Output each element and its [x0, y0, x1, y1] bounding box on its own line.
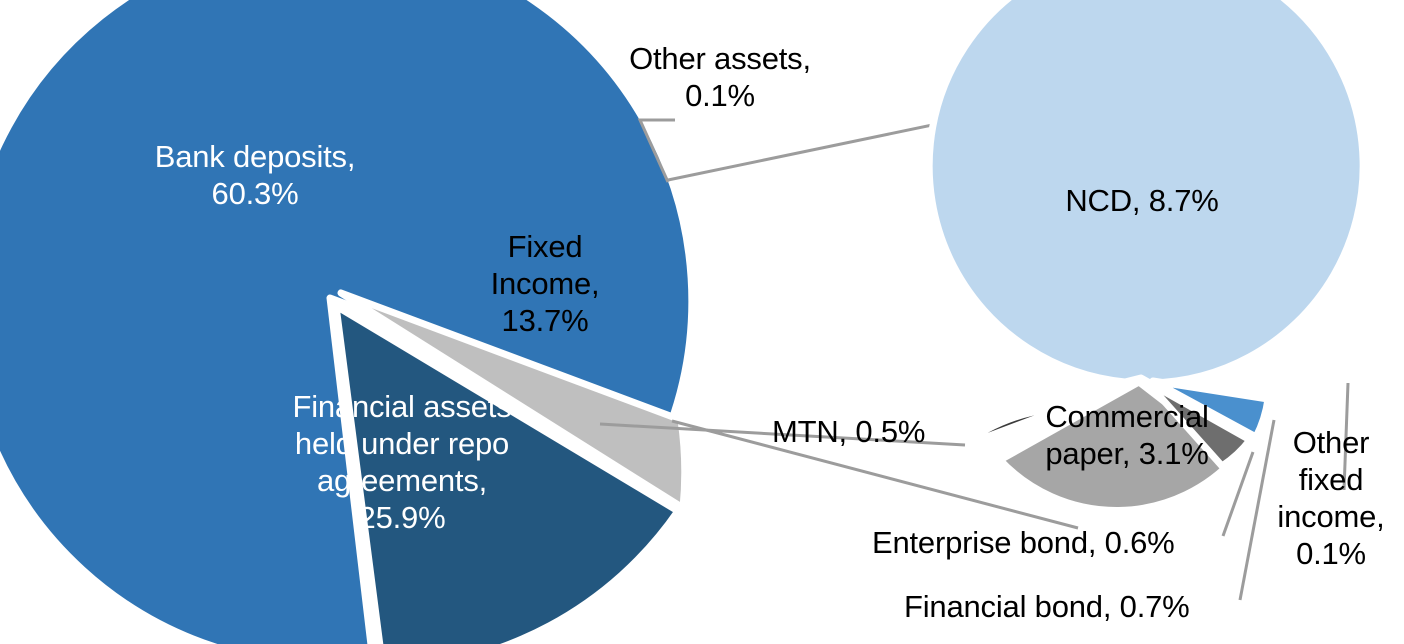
label-bank-deposits: Bank deposits, 60.3%	[110, 138, 400, 212]
label-enterprise-bond: Enterprise bond, 0.6%	[872, 524, 1232, 561]
label-financial-bond: Financial bond, 0.7%	[904, 588, 1250, 625]
label-commercial-paper: Commercial paper, 3.1%	[1022, 398, 1232, 472]
label-fixed-income: Fixed Income, 13.7%	[470, 228, 620, 339]
label-mtn: MTN, 0.5%	[772, 413, 972, 450]
label-repo-assets: Financial assets held under repo agreeme…	[252, 388, 552, 536]
label-ncd: NCD, 8.7%	[1022, 182, 1262, 219]
label-other-assets: Other assets, 0.1%	[592, 40, 848, 114]
pie-of-pie-chart: Bank deposits, 60.3% Financial assets he…	[0, 0, 1404, 644]
label-other-fixed-income: Other fixed income, 0.1%	[1258, 424, 1404, 572]
